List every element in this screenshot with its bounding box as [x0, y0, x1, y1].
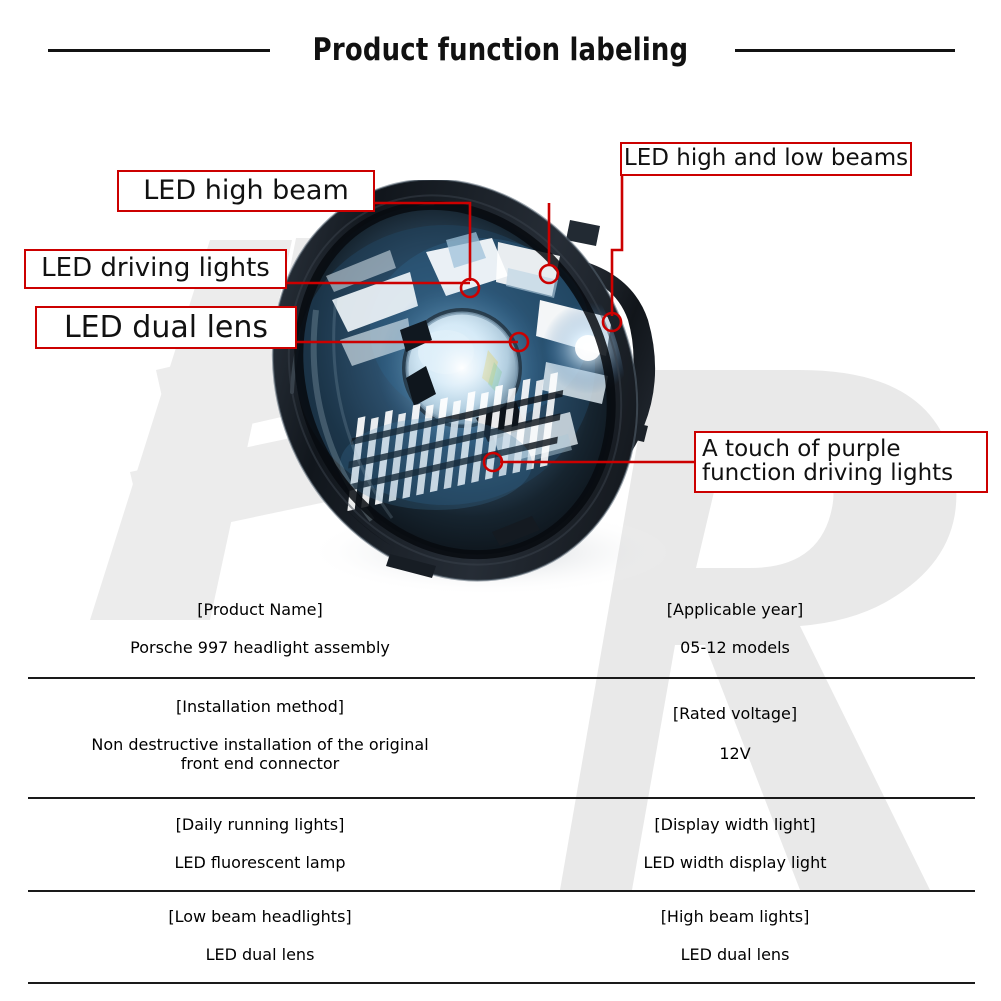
spec-value-display-width-light: LED width display light [505, 853, 965, 872]
callout-led-high-beam[interactable]: LED high beam [117, 170, 375, 212]
callout-led-driving-lights[interactable]: LED driving lights [24, 249, 287, 289]
spec-divider-3 [28, 890, 975, 892]
spec-divider-4 [28, 982, 975, 984]
spec-divider-2 [28, 797, 975, 799]
spec-key-rated-voltage: [Rated voltage] [505, 704, 965, 723]
spec-divider-1 [28, 677, 975, 679]
title-rule-right [735, 49, 955, 52]
spec-key-product-name: [Product Name] [30, 600, 490, 619]
spec-value-product-name: Porsche 997 headlight assembly [30, 638, 490, 657]
spec-key-daily-running-lights: [Daily running lights] [30, 815, 490, 834]
spec-key-applicable-year: [Applicable year] [505, 600, 965, 619]
spec-value-rated-voltage: 12V [505, 744, 965, 763]
spec-value-applicable-year: 05-12 models [505, 638, 965, 657]
callout-led-high-and-low-beams[interactable]: LED high and low beams [620, 142, 912, 176]
product-photo-headlight [240, 180, 740, 600]
spec-key-low-beam-headlights: [Low beam headlights] [30, 907, 490, 926]
spec-value-installation-method: Non destructive installation of the orig… [30, 735, 490, 773]
spec-key-display-width-light: [Display width light] [505, 815, 965, 834]
callout-purple-driving-lights[interactable]: A touch of purple function driving light… [694, 431, 988, 493]
infographic-canvas: Product function labeling [0, 0, 1001, 1001]
spec-value-low-beam-headlights: LED dual lens [30, 945, 490, 964]
spec-key-high-beam-lights: [High beam lights] [505, 907, 965, 926]
callout-led-dual-lens[interactable]: LED dual lens [35, 306, 297, 349]
page-title-bar: Product function labeling [0, 27, 1001, 73]
spec-key-installation-method: [Installation method] [30, 697, 490, 716]
spec-value-high-beam-lights: LED dual lens [505, 945, 965, 964]
spec-value-daily-running-lights: LED fluorescent lamp [30, 853, 490, 872]
